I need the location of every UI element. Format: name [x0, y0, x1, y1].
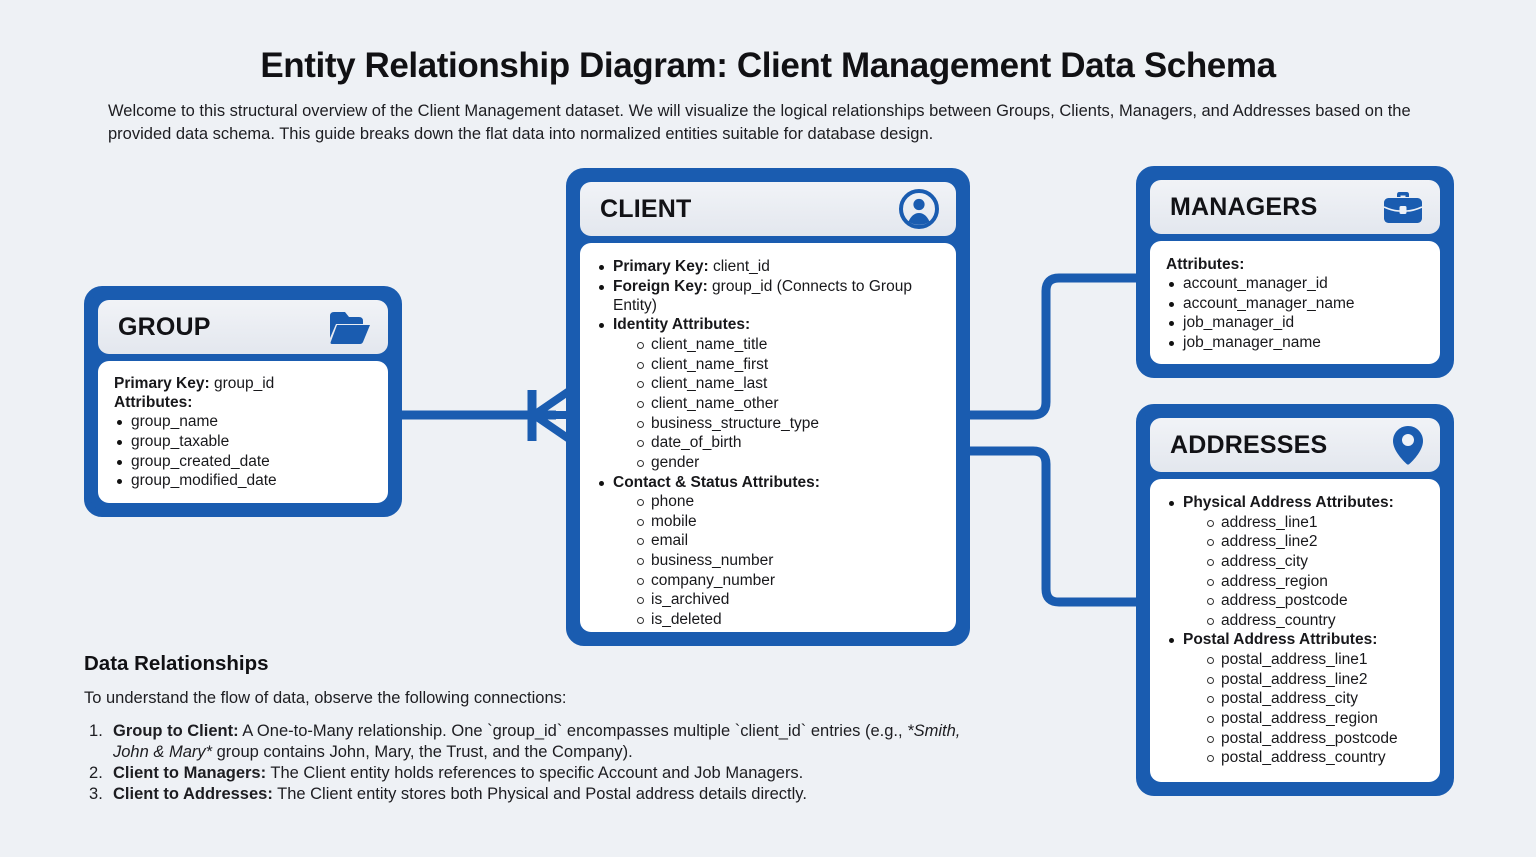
- list-item: date_of_birth: [634, 433, 942, 452]
- list-item: address_city: [1204, 552, 1426, 571]
- list-item: client_name_title: [634, 335, 942, 354]
- intro-paragraph: Welcome to this structural overview of t…: [108, 100, 1428, 146]
- entity-managers[interactable]: MANAGERS Attributes: account_manager_id …: [1136, 166, 1454, 378]
- relationship-label: Client to Addresses:: [113, 785, 273, 803]
- addresses-physical-list: address_line1 address_line2 address_city…: [1204, 513, 1426, 630]
- list-item: job_manager_id: [1166, 313, 1426, 332]
- client-primary-key-label: Primary Key:: [613, 258, 709, 275]
- relationship-text-before: A One-to-Many relationship. One `group_i…: [239, 722, 908, 740]
- group-primary-key-label: Primary Key:: [114, 375, 210, 392]
- list-item: group_taxable: [114, 432, 374, 451]
- relationship-text-before: The Client entity holds references to sp…: [266, 764, 803, 782]
- list-item: address_region: [1204, 572, 1426, 591]
- client-identity-group: Identity Attributes: client_name_title c…: [596, 315, 942, 472]
- group-attribute-list: group_name group_taxable group_created_d…: [114, 412, 374, 490]
- entity-managers-title: MANAGERS: [1170, 193, 1317, 222]
- client-attribute-list: Primary Key: client_id Foreign Key: grou…: [596, 257, 942, 629]
- list-item: account_manager_id: [1166, 274, 1426, 293]
- list-item: Client to Managers: The Client entity ho…: [84, 763, 964, 784]
- entity-client-header: CLIENT: [580, 182, 956, 236]
- client-identity-label: Identity Attributes:: [613, 316, 750, 333]
- list-item: postal_address_region: [1204, 709, 1426, 728]
- list-item: is_deleted: [634, 610, 942, 629]
- client-contact-group: Contact & Status Attributes: phone mobil…: [596, 473, 942, 630]
- entity-addresses-title: ADDRESSES: [1170, 431, 1327, 460]
- group-primary-key-line: Primary Key: group_id: [114, 374, 374, 393]
- relationship-text-before: The Client entity stores both Physical a…: [273, 785, 807, 803]
- entity-client-title: CLIENT: [600, 195, 691, 224]
- list-item: phone: [634, 492, 942, 511]
- relationship-label: Group to Client:: [113, 722, 239, 740]
- client-primary-key-item: Primary Key: client_id: [596, 257, 942, 276]
- entity-addresses-header: ADDRESSES: [1150, 418, 1440, 472]
- client-primary-key-value: client_id: [713, 258, 770, 275]
- list-item: group_created_date: [114, 452, 374, 471]
- entity-group-title: GROUP: [118, 313, 211, 342]
- list-item: postal_address_postcode: [1204, 729, 1426, 748]
- list-item: Client to Addresses: The Client entity s…: [84, 784, 964, 805]
- page-header: Entity Relationship Diagram: Client Mana…: [0, 0, 1536, 146]
- list-item: job_manager_name: [1166, 333, 1426, 352]
- connector-client-to-managers: [968, 278, 1140, 415]
- list-item: gender: [634, 453, 942, 472]
- briefcase-icon: [1382, 188, 1424, 226]
- data-relationships-list: Group to Client: A One-to-Many relations…: [84, 721, 964, 805]
- list-item: postal_address_line1: [1204, 650, 1426, 669]
- managers-attributes-label: Attributes:: [1166, 255, 1426, 274]
- entity-addresses-body: Physical Address Attributes: address_lin…: [1150, 479, 1440, 782]
- list-item: client_name_other: [634, 394, 942, 413]
- managers-attribute-list: account_manager_id account_manager_name …: [1166, 274, 1426, 352]
- client-foreign-key-label: Foreign Key:: [613, 278, 708, 295]
- list-item: group_name: [114, 412, 374, 431]
- list-item: business_number: [634, 551, 942, 570]
- list-item: address_line2: [1204, 532, 1426, 551]
- addresses-attribute-list: Physical Address Attributes: address_lin…: [1166, 493, 1426, 767]
- connector-group-to-client: [402, 389, 574, 441]
- user-circle-icon: [898, 188, 940, 230]
- entity-managers-body: Attributes: account_manager_id account_m…: [1150, 241, 1440, 364]
- data-relationships-lead: To understand the flow of data, observe …: [84, 689, 964, 708]
- addresses-postal-list: postal_address_line1 postal_address_line…: [1204, 650, 1426, 767]
- list-item: client_name_first: [634, 355, 942, 374]
- list-item: is_archived: [634, 590, 942, 609]
- relationship-text-after: group contains John, Mary, the Trust, an…: [212, 743, 633, 761]
- folder-icon: [328, 310, 372, 344]
- list-item: email: [634, 531, 942, 550]
- group-attributes-label: Attributes:: [114, 393, 374, 412]
- list-item: Group to Client: A One-to-Many relations…: [84, 721, 964, 763]
- entity-managers-header: MANAGERS: [1150, 180, 1440, 234]
- group-primary-key-value: group_id: [214, 375, 274, 392]
- list-item: postal_address_city: [1204, 689, 1426, 708]
- list-item: client_name_last: [634, 374, 942, 393]
- addresses-postal-label: Postal Address Attributes:: [1183, 631, 1377, 648]
- list-item: postal_address_country: [1204, 748, 1426, 767]
- relationship-label: Client to Managers:: [113, 764, 266, 782]
- entity-addresses[interactable]: ADDRESSES Physical Address Attributes: a…: [1136, 404, 1454, 796]
- addresses-postal-group: Postal Address Attributes: postal_addres…: [1166, 630, 1426, 767]
- client-foreign-key-item: Foreign Key: group_id (Connects to Group…: [596, 277, 942, 315]
- map-pin-icon: [1392, 424, 1424, 466]
- page-title: Entity Relationship Diagram: Client Mana…: [0, 46, 1536, 86]
- entity-client[interactable]: CLIENT Primary Key: client_id Foreign Ke…: [566, 168, 970, 646]
- addresses-physical-group: Physical Address Attributes: address_lin…: [1166, 493, 1426, 630]
- list-item: address_postcode: [1204, 591, 1426, 610]
- data-relationships-section: Data Relationships To understand the flo…: [84, 652, 964, 805]
- list-item: company_number: [634, 571, 942, 590]
- client-identity-list: client_name_title client_name_first clie…: [634, 335, 942, 472]
- entity-group-header: GROUP: [98, 300, 388, 354]
- addresses-physical-label: Physical Address Attributes:: [1183, 494, 1394, 511]
- data-relationships-title: Data Relationships: [84, 652, 964, 676]
- list-item: account_manager_name: [1166, 294, 1426, 313]
- list-item: business_structure_type: [634, 414, 942, 433]
- entity-group-body: Primary Key: group_id Attributes: group_…: [98, 361, 388, 503]
- list-item: address_line1: [1204, 513, 1426, 532]
- entity-group[interactable]: GROUP Primary Key: group_id Attributes: …: [84, 286, 402, 517]
- list-item: postal_address_line2: [1204, 670, 1426, 689]
- list-item: group_modified_date: [114, 471, 374, 490]
- entity-client-body: Primary Key: client_id Foreign Key: grou…: [580, 243, 956, 632]
- list-item: mobile: [634, 512, 942, 531]
- connector-client-to-addresses: [968, 451, 1140, 602]
- client-contact-list: phone mobile email business_number compa…: [634, 492, 942, 629]
- list-item: address_country: [1204, 611, 1426, 630]
- client-contact-label: Contact & Status Attributes:: [613, 474, 820, 491]
